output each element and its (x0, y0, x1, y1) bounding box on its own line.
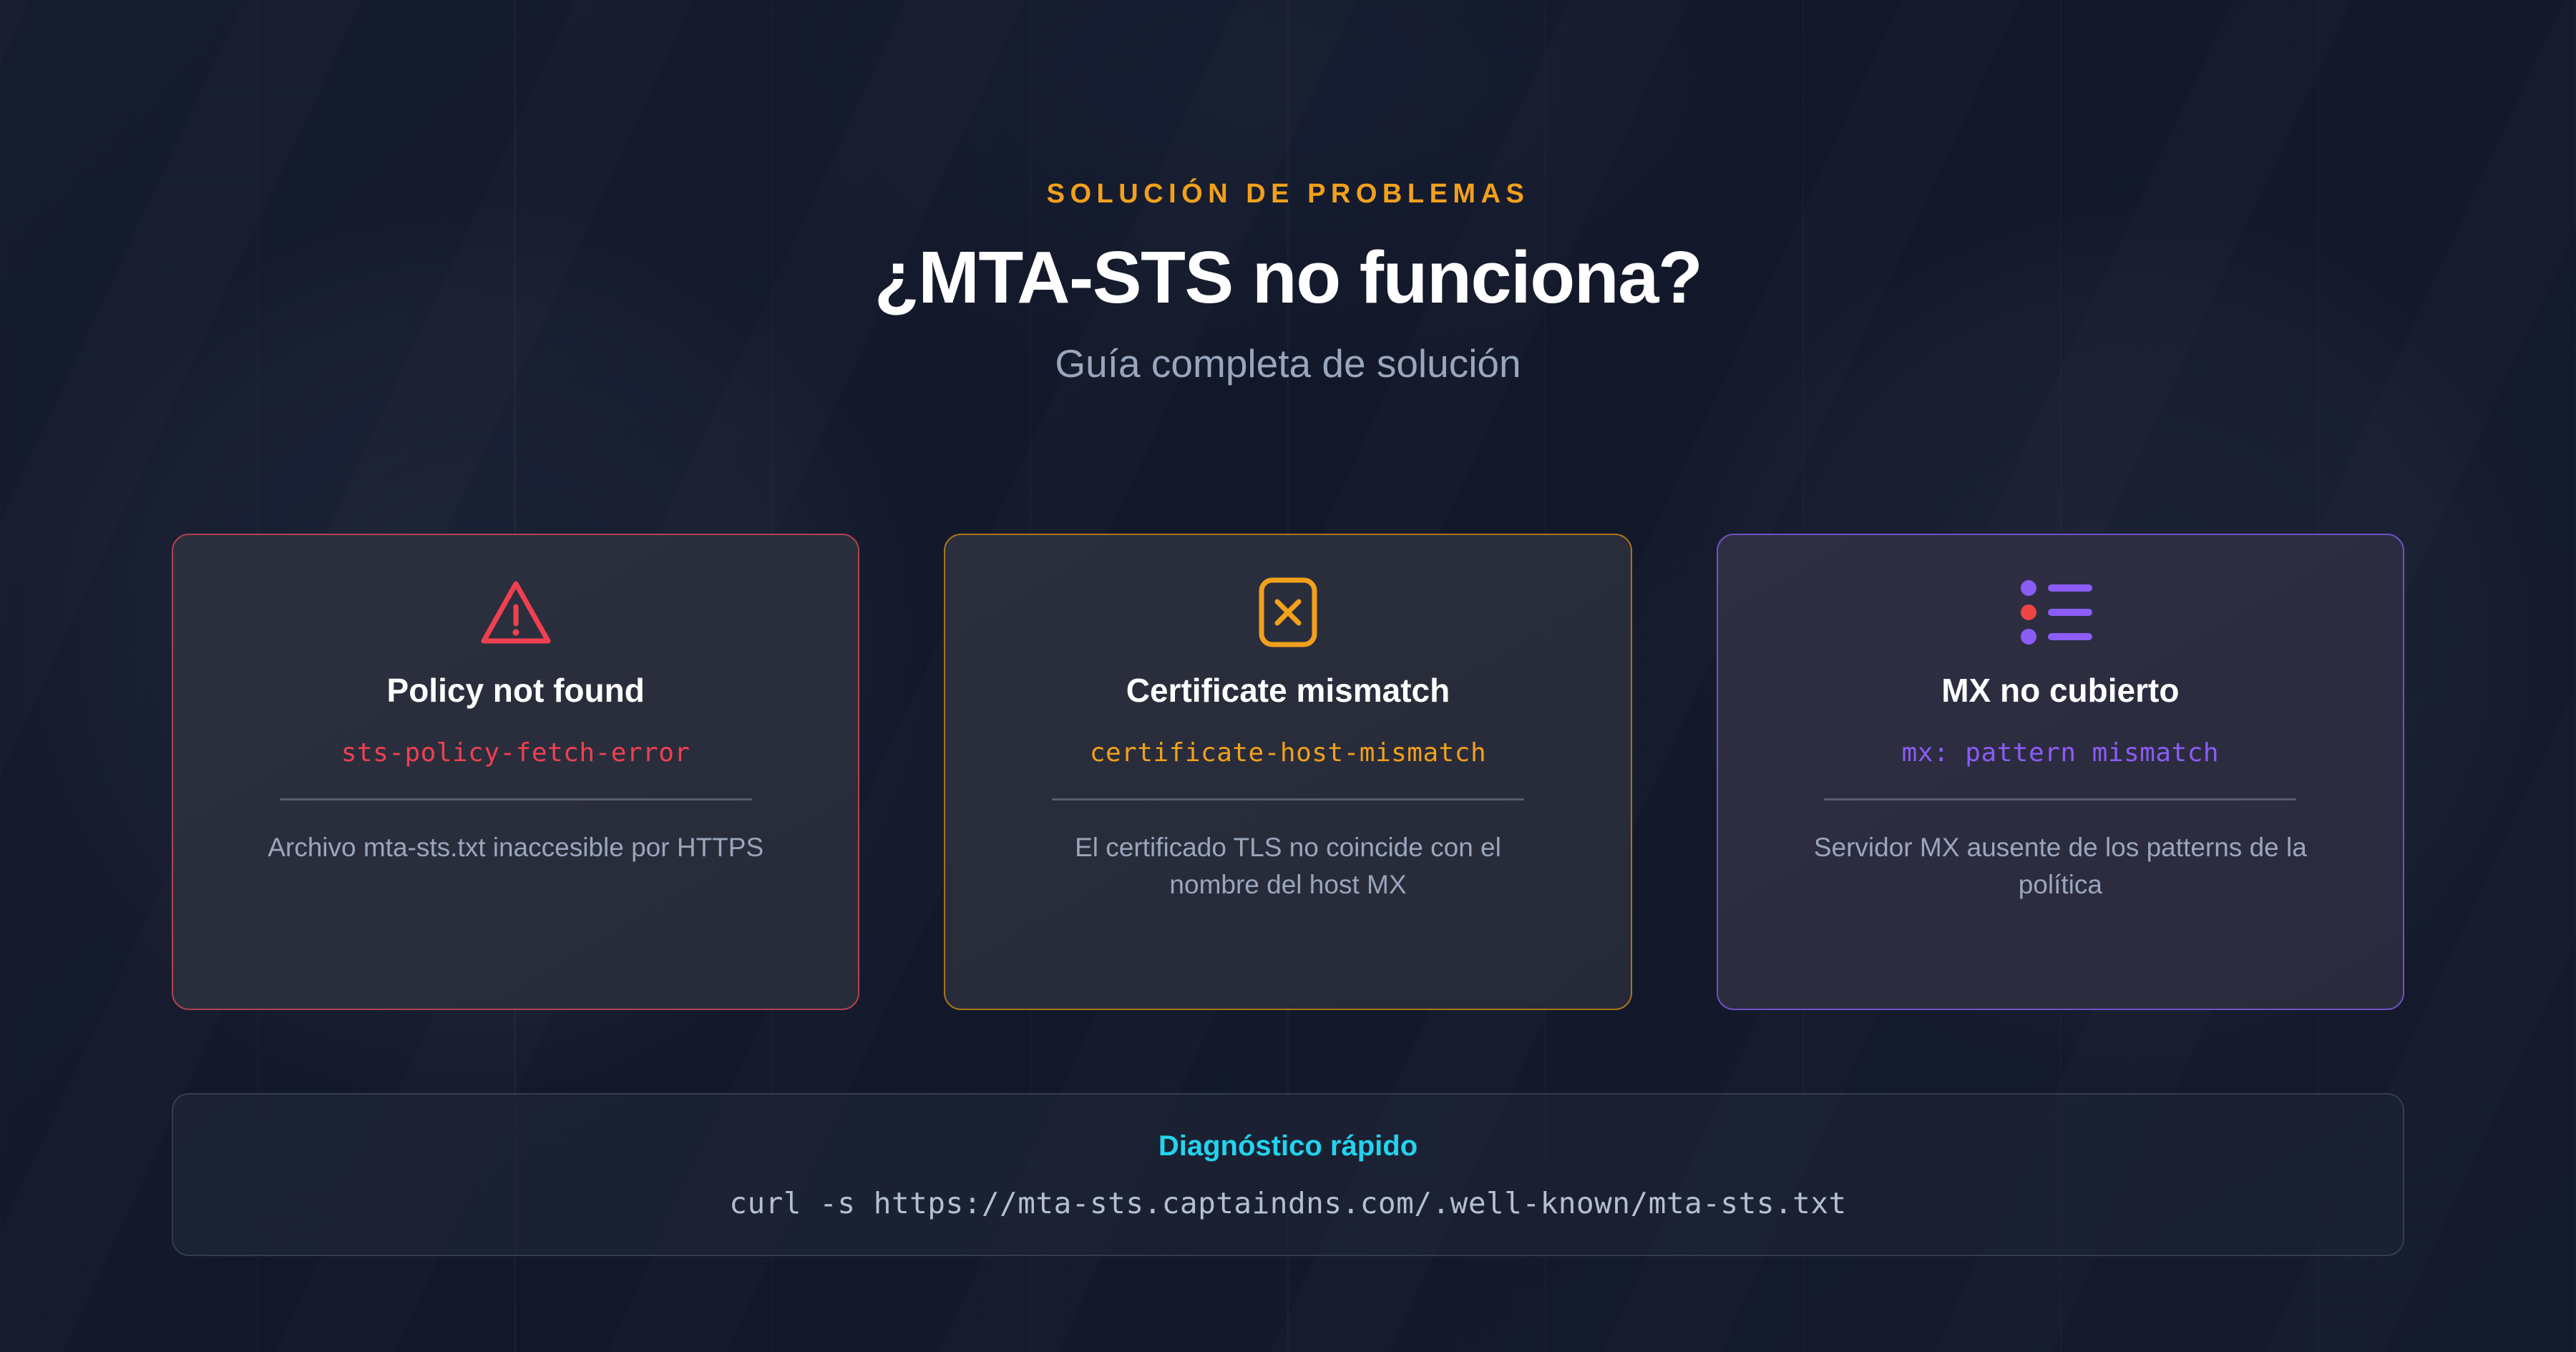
error-card-description: Servidor MX ausente de los patterns de l… (1810, 829, 2311, 904)
error-card-description: El certificado TLS no coincide con el no… (1038, 829, 1538, 904)
error-card-description: Archivo mta-sts.txt inaccesible por HTTP… (268, 829, 763, 867)
error-card-title: Policy not found (387, 672, 645, 709)
error-card-title: Certificate mismatch (1126, 672, 1450, 709)
error-card-code: sts-policy-fetch-error (341, 739, 691, 768)
quick-diagnostic-panel: Diagnóstico rápido curl -s https://mta-s… (172, 1093, 2404, 1256)
error-card-certificate-mismatch[interactable]: Certificate mismatch certificate-host-mi… (944, 534, 1631, 1010)
error-card-code: certificate-host-mismatch (1090, 739, 1486, 768)
eyebrow-label: SOLUCIÓN DE PROBLEMAS (0, 180, 2576, 207)
card-divider (1824, 798, 2296, 800)
error-card-mx-not-covered[interactable]: MX no cubierto mx: pattern mismatch Serv… (1717, 534, 2404, 1010)
quick-diagnostic-title: Diagnóstico rápido (1158, 1132, 1418, 1160)
page-content: SOLUCIÓN DE PROBLEMAS ¿MTA-STS no funcio… (0, 0, 2576, 1352)
warning-triangle-icon (480, 572, 552, 652)
page-header: SOLUCIÓN DE PROBLEMAS ¿MTA-STS no funcio… (0, 0, 2576, 386)
quick-diagnostic-command[interactable]: curl -s https://mta-sts.captaindns.com/.… (729, 1189, 1846, 1218)
page-title: ¿MTA-STS no funciona? (0, 239, 2576, 316)
error-card-title: MX no cubierto (1941, 672, 2179, 709)
page-subtitle: Guía completa de solución (0, 342, 2576, 386)
error-card-policy-not-found[interactable]: Policy not found sts-policy-fetch-error … (172, 534, 859, 1010)
error-card-code: mx: pattern mismatch (1902, 739, 2219, 768)
card-divider (280, 798, 752, 800)
card-divider (1052, 798, 1524, 800)
error-card-grid: Policy not found sts-policy-fetch-error … (172, 534, 2404, 1010)
mx-list-icon (2018, 572, 2102, 652)
certificate-x-icon (1258, 572, 1318, 652)
